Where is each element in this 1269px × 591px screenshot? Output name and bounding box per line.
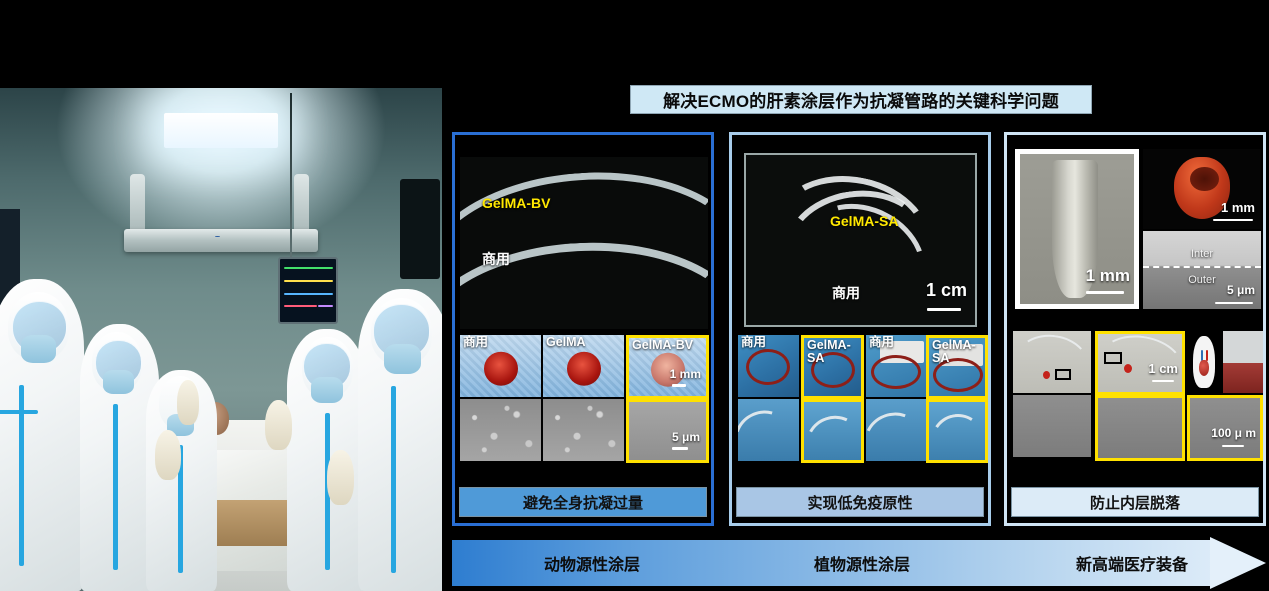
cell-label-gelma-sa: GelMA-SA bbox=[932, 339, 984, 365]
grid-cell-commercial-macro: 商用 bbox=[460, 335, 541, 397]
blood-spot bbox=[1124, 364, 1132, 373]
grid-cell-cannula-4 bbox=[926, 399, 988, 463]
cannula bbox=[801, 409, 864, 463]
grid-cell-gelma-bv-macro: GelMA-BV 1 mm bbox=[626, 335, 709, 399]
coiled-tube-photo: GelMA-SA 商用 1 cm bbox=[744, 153, 977, 327]
scale-text-1cm: 1 cm bbox=[926, 280, 967, 301]
stage-label-device: 新高端医疗装备 bbox=[1022, 540, 1242, 586]
scale-bar-1cm bbox=[927, 308, 961, 311]
grid-cell-commercial-sem bbox=[460, 399, 541, 461]
pig-anatomy-illustration bbox=[1187, 331, 1221, 393]
staff-member-1 bbox=[0, 279, 84, 591]
sem-surface-left bbox=[1013, 395, 1091, 457]
grid-cell-gelma-sa-circuit: GelMA-SA bbox=[801, 335, 864, 399]
layer-divider bbox=[1143, 266, 1261, 268]
blood-filled-tube bbox=[567, 352, 601, 386]
pendant-badge-icon bbox=[215, 236, 220, 237]
ppe-stripe bbox=[0, 410, 38, 414]
scale-text-1cm: 1 cm bbox=[1148, 361, 1178, 376]
clinical-icu-photo bbox=[0, 88, 442, 591]
panel-2-caption: 实现低免疫原性 bbox=[736, 487, 984, 517]
blood-circuit-loop bbox=[871, 355, 921, 389]
blood-filled-tube bbox=[484, 352, 518, 386]
panel-2-body: GelMA-SA 商用 1 cm 商用 GelMA-SA 商用 GelMA-SA bbox=[732, 135, 988, 477]
circuit-loop bbox=[1013, 331, 1091, 393]
scale-text-5um: 5 μm bbox=[672, 430, 700, 444]
cannula bbox=[866, 404, 927, 461]
sem-surface-right: 100 μ m bbox=[1187, 395, 1263, 461]
face-mask bbox=[21, 335, 56, 363]
scale-bar-5um bbox=[1215, 302, 1253, 304]
circuit-photo-middle: 1 cm bbox=[1095, 331, 1185, 395]
panel-3-body: 1 mm 1 mm Inter Outer 5 μm 1 bbox=[1007, 135, 1263, 477]
grid-cell-cannula-2 bbox=[801, 399, 864, 463]
ceiling-light bbox=[164, 113, 279, 148]
vessel-line bbox=[1206, 350, 1208, 361]
pendant-column-right bbox=[294, 174, 309, 234]
cross-section-sem: Inter Outer 5 μm bbox=[1143, 231, 1261, 309]
figure-title: 解决ECMO的肝素涂层作为抗凝管路的关键科学问题 bbox=[630, 85, 1092, 114]
panel-animal-derived-coating: GelMA-BV 商用 商用 GelMA GelMA-BV 1 mm 5 μm … bbox=[452, 132, 714, 526]
scale-bar-100um bbox=[1222, 445, 1244, 447]
vitals-monitor bbox=[278, 257, 338, 325]
cell-label-gelma-sa: GelMA-SA bbox=[807, 339, 859, 365]
grid-cell-commercial-circuit: 商用 bbox=[738, 335, 799, 397]
label-gelma-sa: GelMA-SA bbox=[830, 213, 898, 229]
pendant-column-left bbox=[130, 174, 145, 234]
staff-member-4 bbox=[287, 329, 367, 591]
cell-label-commercial: 商用 bbox=[463, 336, 488, 349]
wall-equipment-right bbox=[400, 179, 440, 280]
cannula bbox=[926, 409, 988, 463]
surgery-photo bbox=[1223, 331, 1263, 393]
tube-cross-section-photo: 1 mm bbox=[1143, 149, 1261, 229]
scale-bar-1mm bbox=[1213, 219, 1253, 221]
ppe-stripe bbox=[391, 386, 396, 573]
blood-circuit-loop bbox=[746, 349, 790, 385]
scale-text-1mm: 1 mm bbox=[670, 367, 701, 381]
callout-box bbox=[1104, 352, 1122, 364]
development-stage-arrow: 动物源性涂层 植物源性涂层 新高端医疗装备 bbox=[452, 540, 1266, 586]
sem-surface-middle bbox=[1095, 395, 1185, 461]
scale-bar-1mm bbox=[672, 384, 686, 387]
scale-text-1mm: 1 mm bbox=[1086, 266, 1130, 286]
panel-1-caption: 避免全身抗凝过量 bbox=[459, 487, 707, 517]
face-mask bbox=[384, 344, 421, 374]
scale-bar-1cm bbox=[1152, 380, 1174, 382]
scale-bar-5um bbox=[672, 447, 688, 450]
tube-macro-photo: 1 mm bbox=[1015, 149, 1139, 309]
label-commercial: 商用 bbox=[832, 283, 860, 303]
cannula bbox=[738, 401, 799, 461]
grid-cell-gelma-bv-sem: 5 μm bbox=[626, 399, 709, 463]
face-mask bbox=[103, 370, 133, 394]
gloved-hand bbox=[265, 400, 292, 450]
scale-text-1mm: 1 mm bbox=[1221, 200, 1255, 215]
panel-1-body: GelMA-BV 商用 商用 GelMA GelMA-BV 1 mm 5 μm bbox=[455, 135, 711, 477]
panel-plant-derived-coating: GelMA-SA 商用 1 cm 商用 GelMA-SA 商用 GelMA-SA bbox=[729, 132, 991, 526]
grid-cell-commercial-device: 商用 bbox=[866, 335, 927, 397]
cell-label-commercial: 商用 bbox=[741, 336, 766, 349]
tube-macro-inner: 1 mm bbox=[1020, 154, 1134, 304]
stage-label-animal: 动物源性涂层 bbox=[482, 540, 702, 586]
callout-box bbox=[1055, 369, 1071, 380]
panel-high-end-device: 1 mm 1 mm Inter Outer 5 μm 1 bbox=[1004, 132, 1266, 526]
scale-bar-1mm bbox=[1086, 291, 1124, 294]
cell-label-gelma: GelMA bbox=[546, 336, 586, 349]
gloved-hand bbox=[155, 430, 182, 480]
grid-cell-gelma-sem bbox=[543, 399, 624, 461]
gloved-hand bbox=[327, 450, 354, 505]
stage-label-plant: 植物源性涂层 bbox=[752, 540, 972, 586]
grid-cell-cannula-3 bbox=[866, 399, 927, 461]
grid-cell-gelma-sa-device: GelMA-SA bbox=[926, 335, 988, 399]
scale-text-5um: 5 μm bbox=[1227, 283, 1255, 297]
label-gelma-bv: GelMA-BV bbox=[482, 195, 550, 211]
sem-layer-inter: Inter bbox=[1143, 248, 1261, 260]
gloved-hand bbox=[177, 380, 199, 425]
tube-comparison-photo: GelMA-BV 商用 bbox=[460, 157, 708, 329]
grid-cell-cannula-1 bbox=[738, 399, 799, 461]
scale-text-100um: 100 μ m bbox=[1211, 426, 1256, 440]
cell-label-commercial: 商用 bbox=[869, 336, 894, 349]
panel-3-caption: 防止内层脱落 bbox=[1011, 487, 1259, 517]
staff-member-5 bbox=[358, 289, 442, 591]
circuit-photo-left bbox=[1013, 331, 1091, 393]
label-commercial: 商用 bbox=[482, 249, 510, 269]
cell-label-gelma-bv: GelMA-BV bbox=[632, 339, 693, 352]
face-mask bbox=[311, 377, 343, 403]
blood-spot bbox=[1043, 371, 1050, 379]
grid-cell-gelma-macro: GelMA bbox=[543, 335, 624, 397]
ppe-stripe bbox=[113, 404, 118, 569]
tube-lumen bbox=[1190, 167, 1218, 191]
